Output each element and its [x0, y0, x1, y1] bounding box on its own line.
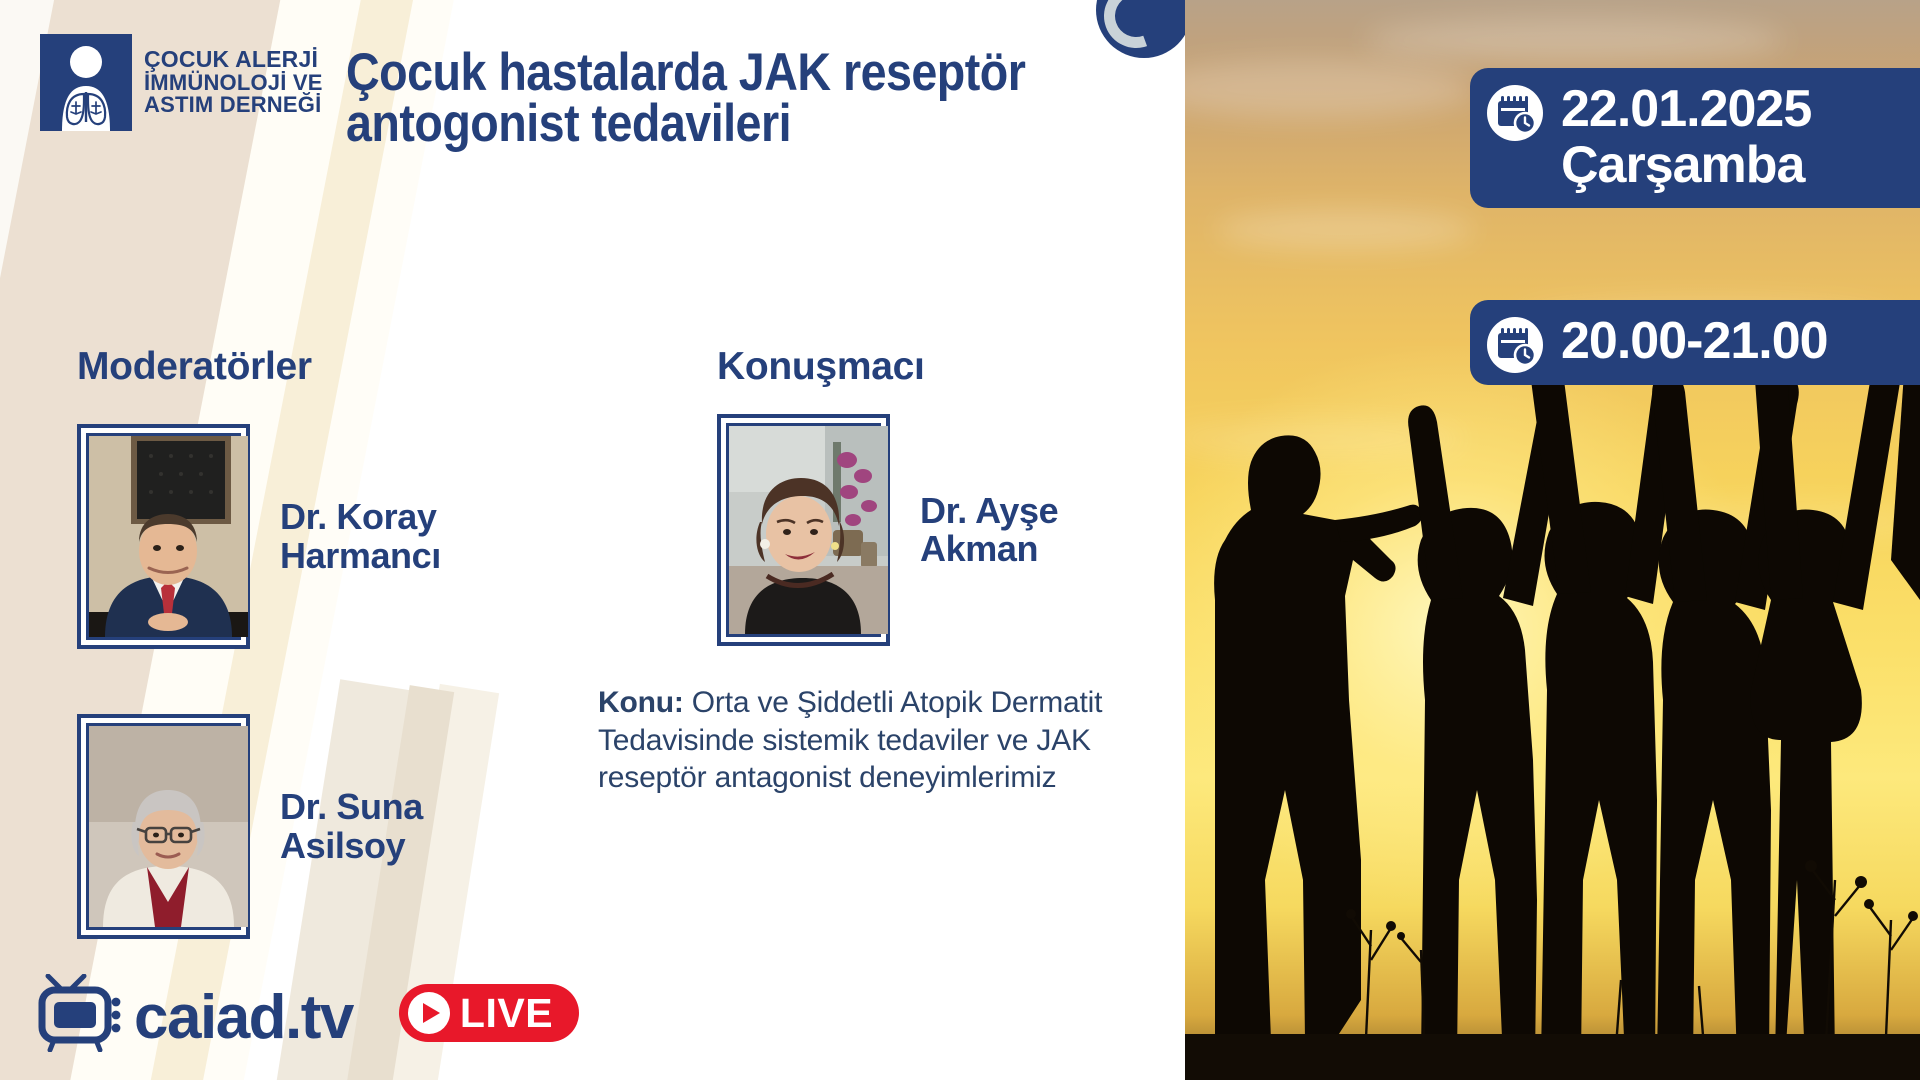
calendar-clock-icon: [1487, 85, 1543, 141]
portrait-suna-asilsoy: [89, 726, 248, 927]
moderator-entry: Dr. Koray Harmancı: [77, 424, 441, 649]
speaker-entry: Dr. Ayşe Akman: [717, 414, 1058, 646]
speaker-heading: Konuşmacı: [717, 345, 925, 389]
poster-canvas: ÇOCUK ALERJİ İMMÜNOLOJİ VE ASTIM DERNEĞİ…: [0, 0, 1920, 1080]
topic-description: Konu: Orta ve Şiddetli Atopik Dermatit T…: [598, 684, 1198, 797]
time-badge: 20.00-21.00: [1470, 300, 1920, 385]
avatar: [77, 714, 250, 939]
event-time: 20.00-21.00: [1561, 313, 1828, 369]
avatar: [77, 424, 250, 649]
portrait-koray-harmanci: [89, 436, 248, 637]
page-title: Çocuk hastalarda JAK reseptör antogonist…: [346, 48, 1076, 150]
avatar: [717, 414, 890, 646]
live-label: LIVE: [460, 990, 553, 1037]
loading-spinner-icon: [1096, 0, 1192, 58]
topic-label: Konu:: [598, 686, 684, 719]
moderators-heading: Moderatörler: [77, 345, 312, 389]
event-date: 22.01.2025 Çarşamba: [1561, 81, 1811, 193]
caiad-tv-logo[interactable]: caiad.tv: [38, 974, 353, 1052]
org-name-line2: İMMÜNOLOJİ VE: [144, 72, 323, 95]
play-icon: [408, 992, 450, 1034]
date-badge: 22.01.2025 Çarşamba: [1470, 68, 1920, 208]
ground-line: [1185, 1034, 1920, 1080]
lungs-person-icon: [40, 34, 132, 131]
moderator-name: Dr. Suna Asilsoy: [280, 788, 423, 864]
org-name-line1: ÇOCUK ALERJİ: [144, 48, 323, 72]
retro-tv-icon: [38, 974, 130, 1052]
organization-name: ÇOCUK ALERJİ İMMÜNOLOJİ VE ASTIM DERNEĞİ: [144, 48, 323, 118]
calendar-clock-icon: [1487, 317, 1543, 373]
organization-logo: ÇOCUK ALERJİ İMMÜNOLOJİ VE ASTIM DERNEĞİ: [40, 34, 323, 131]
brand-name: caiad.tv: [134, 982, 353, 1053]
portrait-ayse-akman: [729, 426, 888, 634]
live-badge[interactable]: LIVE: [399, 984, 579, 1042]
footer-brand-bar: caiad.tv LIVE: [38, 974, 579, 1052]
org-name-line3: ASTIM DERNEĞİ: [144, 94, 323, 117]
moderator-name: Dr. Koray Harmancı: [280, 498, 441, 574]
moderator-entry: Dr. Suna Asilsoy: [77, 714, 423, 939]
speaker-name: Dr. Ayşe Akman: [920, 492, 1058, 568]
